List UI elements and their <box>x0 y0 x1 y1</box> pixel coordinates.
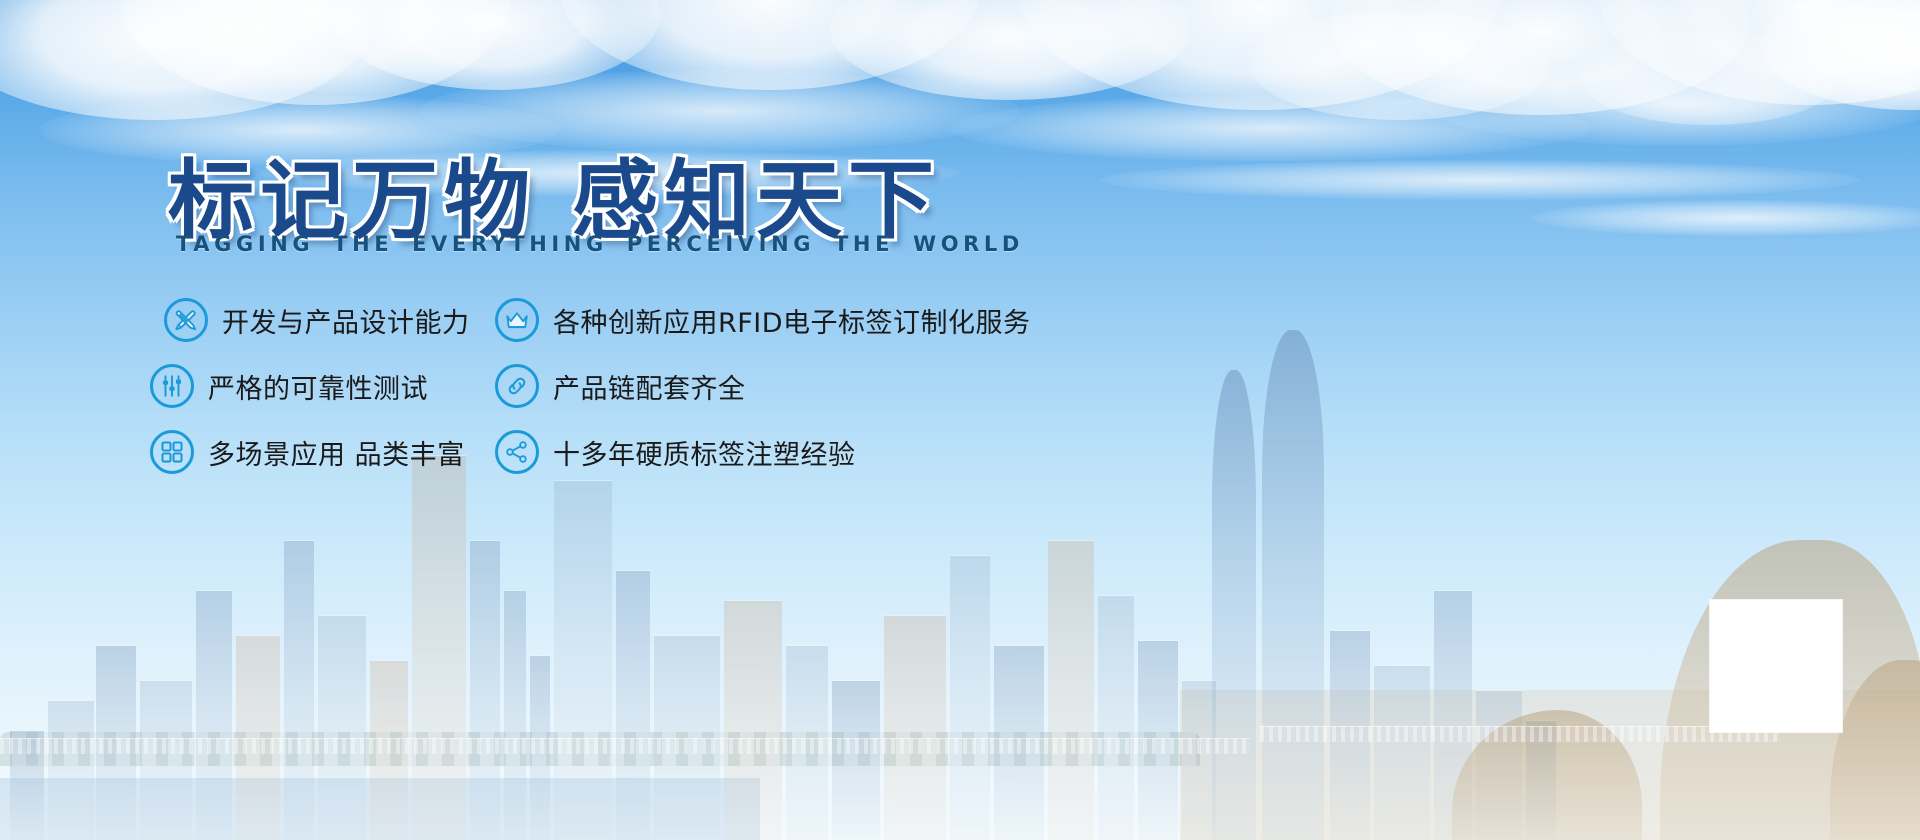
feature-label: 多场景应用 品类丰富 <box>208 433 465 472</box>
share-network-icon <box>495 430 539 474</box>
pen-ruler-icon <box>164 298 208 342</box>
qr-code-matrix <box>1717 607 1835 725</box>
crown-icon <box>495 298 539 342</box>
feature-column-left: 开发与产品设计能力 严格的可靠性测试 <box>150 288 510 486</box>
feature-label: 严格的可靠性测试 <box>208 367 428 406</box>
feature-item-multi-scenario: 多场景应用 品类丰富 <box>150 420 510 484</box>
feature-label: 开发与产品设计能力 <box>222 301 470 340</box>
page-subtitle: TAGGING THE EVERYTHING PERCEIVING THE WO… <box>176 232 1024 256</box>
feature-item-design-capability: 开发与产品设计能力 <box>150 288 510 352</box>
promotional-banner: 标记万物 感知天下 TAGGING THE EVERYTHING PERCEIV… <box>0 0 1920 840</box>
feature-item-rfid-customization: 各种创新应用RFID电子标签订制化服务 <box>495 288 1135 352</box>
feature-label: 产品链配套齐全 <box>553 367 746 406</box>
qr-code[interactable] <box>1710 600 1842 732</box>
link-chain-icon <box>495 364 539 408</box>
feature-label: 十多年硬质标签注塑经验 <box>553 433 856 472</box>
equalizer-sliders-icon <box>150 364 194 408</box>
feature-item-molding-experience: 十多年硬质标签注塑经验 <box>495 420 1135 484</box>
feature-item-product-chain: 产品链配套齐全 <box>495 354 1135 418</box>
grid-squares-icon <box>150 430 194 474</box>
feature-label: 各种创新应用RFID电子标签订制化服务 <box>553 301 1031 340</box>
feature-column-right: 各种创新应用RFID电子标签订制化服务 产品链配套齐全 <box>495 288 1135 486</box>
feature-item-reliability-testing: 严格的可靠性测试 <box>150 354 510 418</box>
